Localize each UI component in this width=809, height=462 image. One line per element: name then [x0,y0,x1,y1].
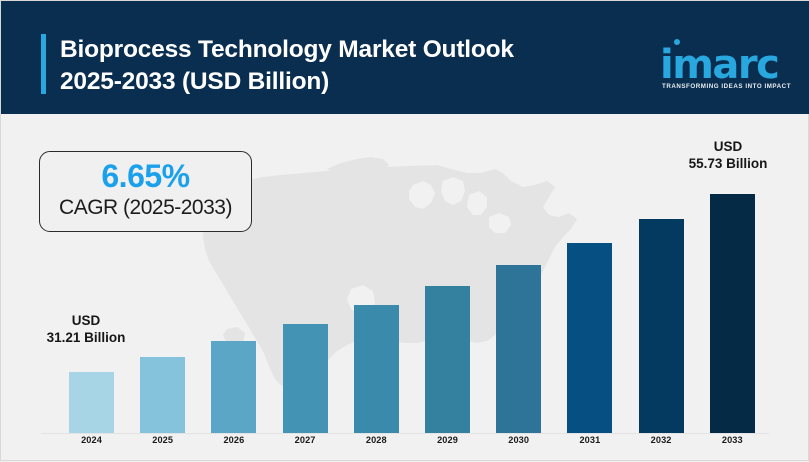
x-axis-label-2031: 2031 [555,435,624,445]
x-axis-label-2030: 2030 [484,435,553,445]
cagr-label: CAGR (2025-2033) [40,194,251,221]
imarc-logo: imarc TRANSFORMING IDEAS INTO IMPACT [660,39,780,91]
x-axis-label-2032: 2032 [627,435,696,445]
chart-container: Bioprocess Technology Market Outlook 202… [0,0,809,461]
cagr-callout-box: 6.65% CAGR (2025-2033) [39,151,252,232]
title-line-1: Bioprocess Technology Market Outlook [60,34,620,66]
logo-tagline: TRANSFORMING IDEAS INTO IMPACT [662,83,791,90]
bar-2033 [710,194,755,433]
axis-baseline [41,433,769,434]
bar-2032 [639,219,684,433]
x-axis-label-2029: 2029 [413,435,482,445]
bar-2028 [354,305,399,433]
bar-2031 [567,243,612,433]
bar-2029 [425,286,470,433]
bar-2025 [140,357,185,433]
x-axis-label-2033: 2033 [698,435,767,445]
cagr-value: 6.65% [40,158,251,194]
x-axis-label-2026: 2026 [199,435,268,445]
end-currency: USD [673,138,783,155]
bar-2030 [496,265,541,433]
page-title: Bioprocess Technology Market Outlook 202… [60,34,620,98]
bar-2027 [283,324,328,433]
x-axis-label-2027: 2027 [271,435,340,445]
end-amount: 55.73 Billion [673,155,783,172]
start-currency: USD [36,312,136,329]
title-line-2: 2025-2033 (USD Billion) [60,66,620,98]
x-axis-label-2025: 2025 [128,435,197,445]
bar-2024 [69,372,114,433]
end-value-callout: USD 55.73 Billion [673,138,783,172]
start-value-callout: USD 31.21 Billion [36,312,136,346]
title-accent-bar [41,34,46,94]
logo-wordmark: imarc [660,45,778,85]
start-amount: 31.21 Billion [36,329,136,346]
x-axis-label-2028: 2028 [342,435,411,445]
bar-2026 [211,341,256,433]
chart-header: Bioprocess Technology Market Outlook 202… [1,1,809,114]
x-axis-label-2024: 2024 [57,435,126,445]
